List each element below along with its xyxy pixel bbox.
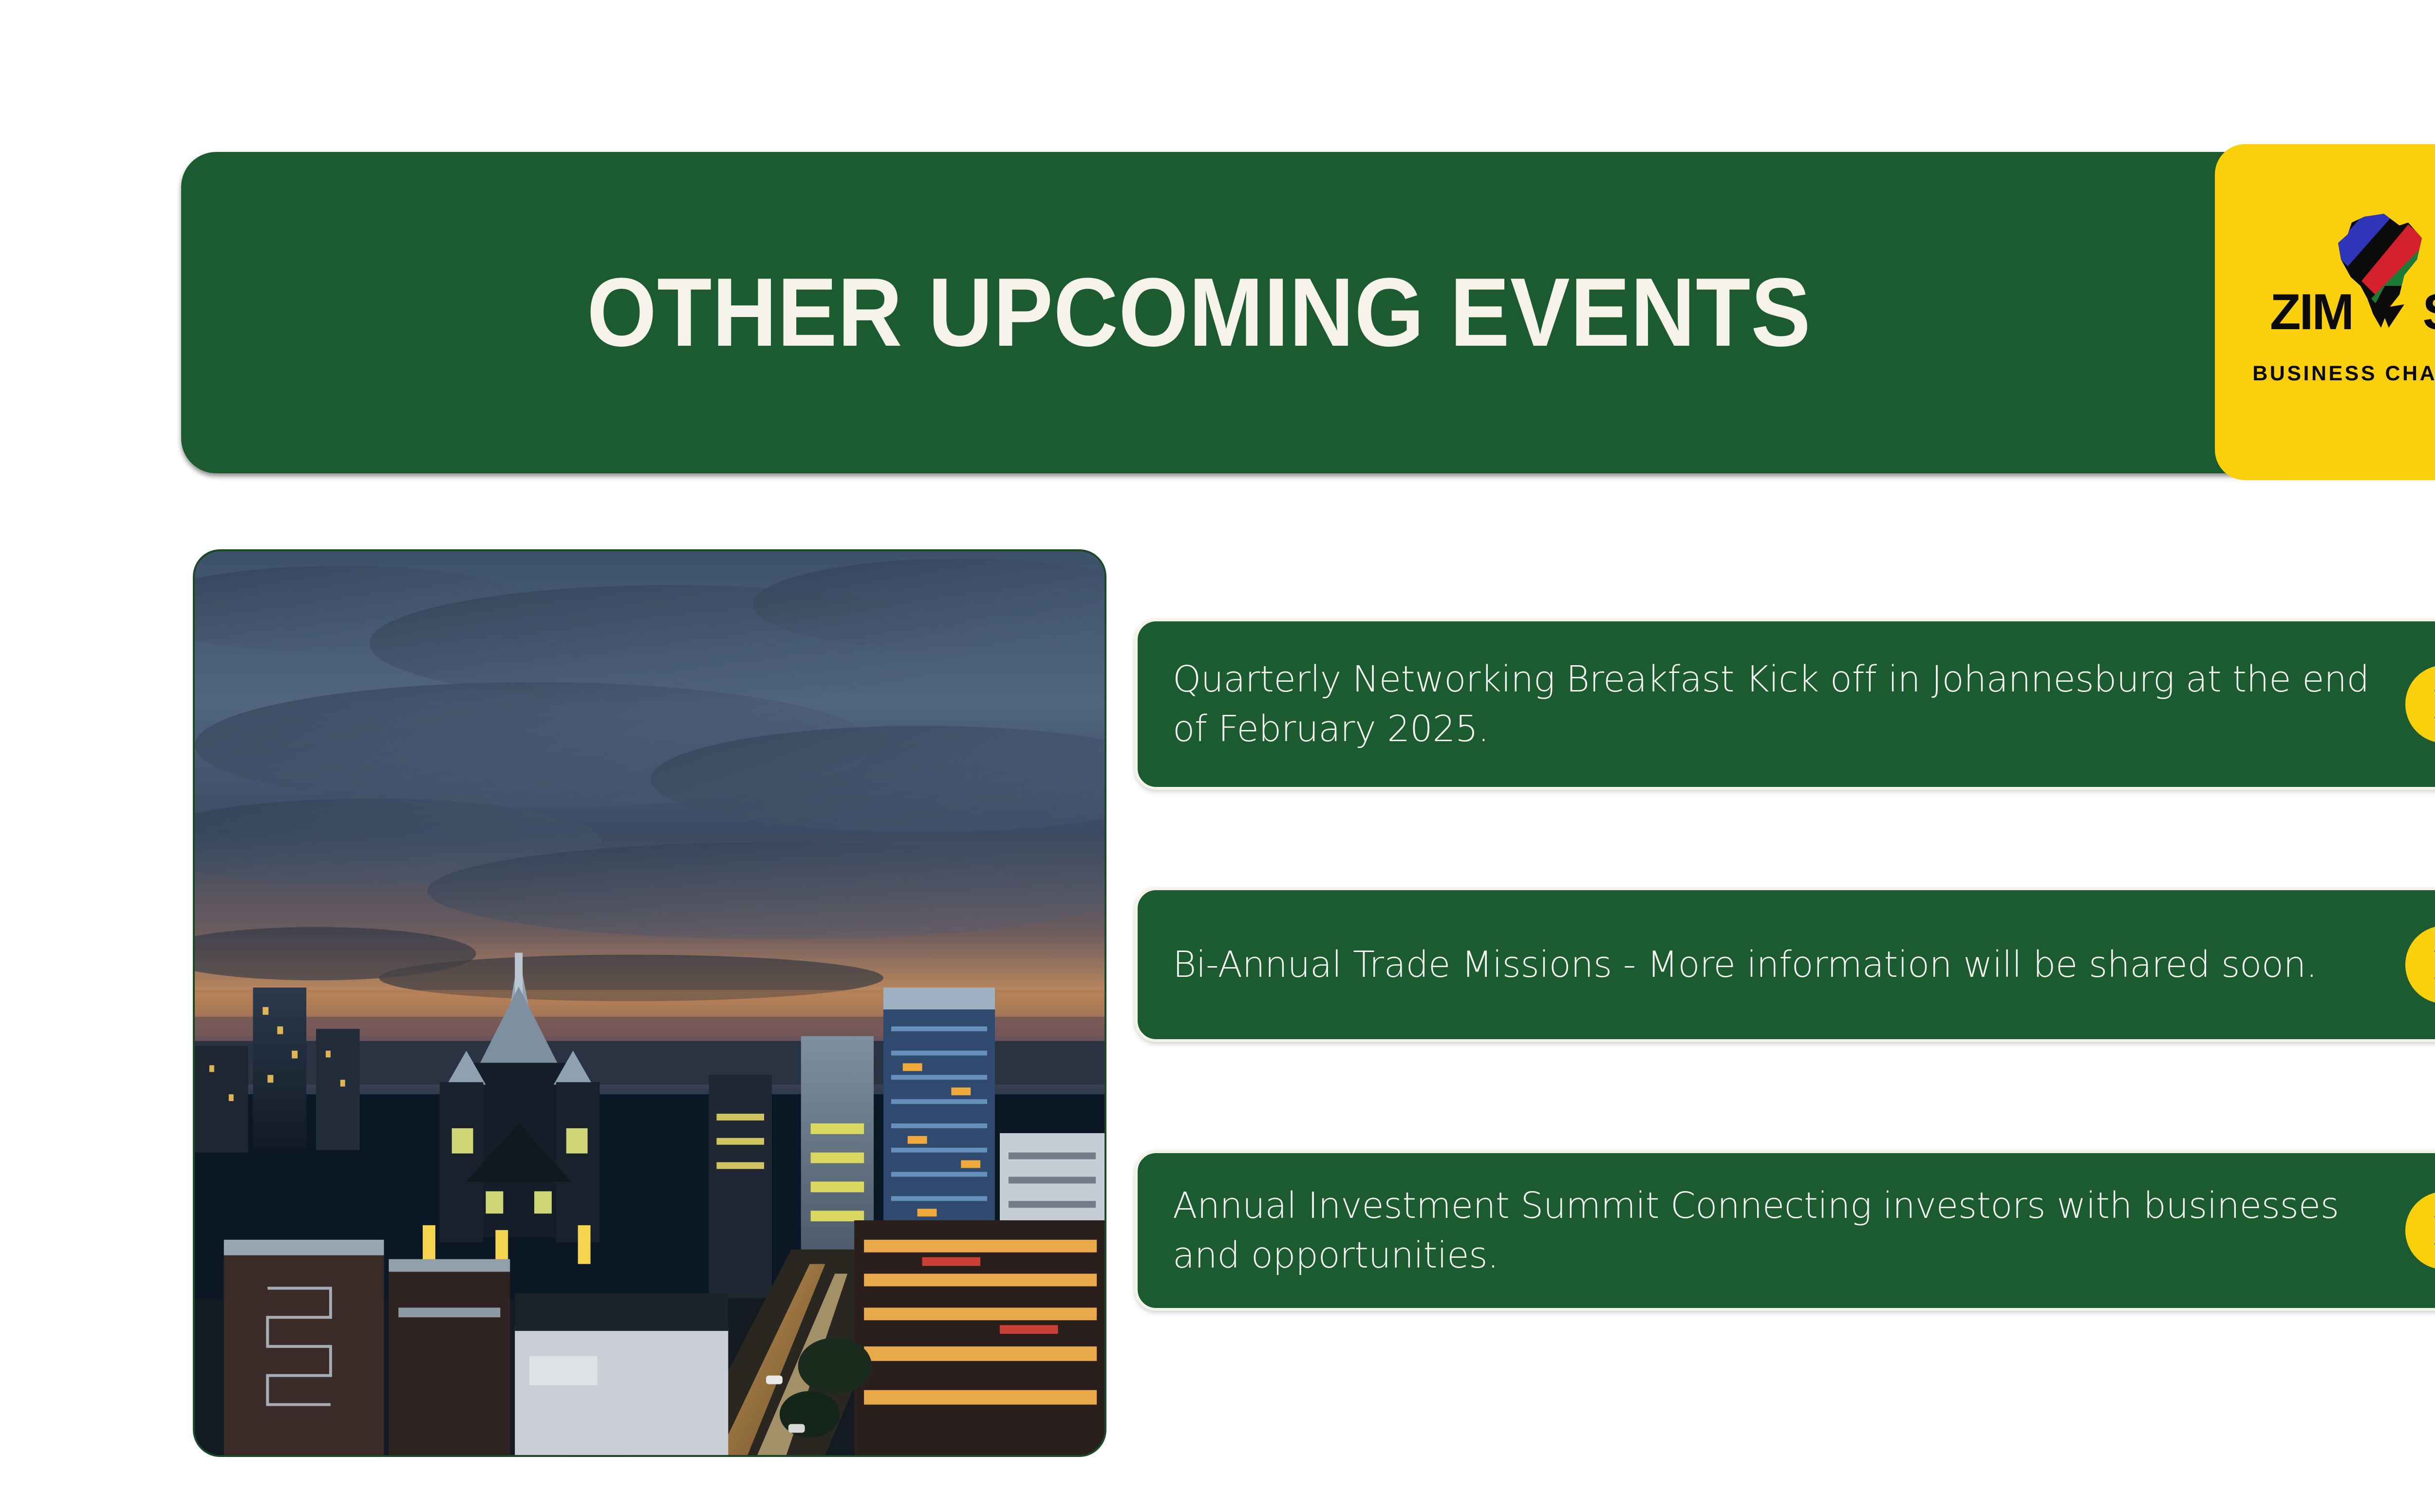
event-text: Quarterly Networking Breakfast Kick off … [1138,654,2405,754]
city-skyline-illustration [195,551,1105,1455]
event-text: Annual Investment Summit Connecting inve… [1138,1181,2405,1280]
logo-word-zim: ZIM [2270,287,2353,337]
chevron-right-icon[interactable] [2405,1192,2435,1269]
event-card[interactable]: Quarterly Networking Breakfast Kick off … [1135,618,2435,790]
page-title: OTHER UPCOMING EVENTS [262,152,2135,473]
event-list: Quarterly Networking Breakfast Kick off … [1135,618,2435,1311]
header-banner: OTHER UPCOMING EVENTS [181,152,2309,473]
logo-word-sa: SA [2423,287,2435,337]
logo-tagline: BUSINESS CHAMBER [2244,362,2435,386]
event-card[interactable]: Annual Investment Summit Connecting inve… [1135,1150,2435,1311]
event-card[interactable]: Bi-Annual Trade Missions - More informat… [1135,887,2435,1042]
event-text: Bi-Annual Trade Missions - More informat… [1138,940,2405,989]
chevron-right-icon[interactable] [2405,926,2435,1004]
brand-logo-panel: ZIM SA BUSINESS CHAMBER [2215,144,2435,480]
chevron-right-icon[interactable] [2405,665,2435,743]
logo-inner: ZIM SA BUSINESS CHAMBER [2244,210,2435,414]
city-skyline-photo [193,549,1106,1457]
logo-wordmark-row: ZIM SA [2244,283,2435,341]
